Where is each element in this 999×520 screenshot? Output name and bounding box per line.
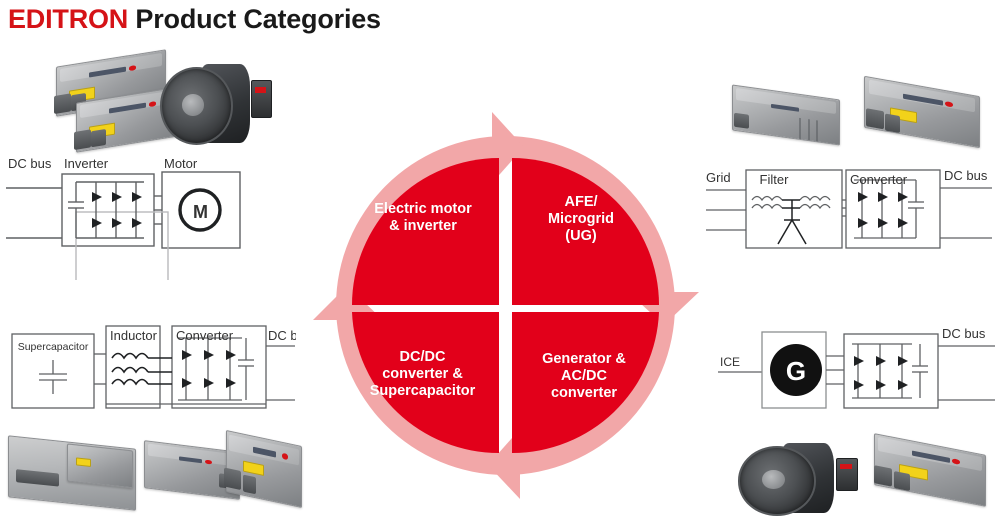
quadrant-label-afe-microgrid: AFE/ Microgrid (UG) — [511, 194, 651, 245]
label-filter: Filter — [760, 172, 790, 187]
brand-name: EDITRON — [8, 4, 128, 34]
label-ice: ICE — [720, 355, 740, 369]
schematic-ice-generator: G ICE DC bus — [716, 318, 996, 423]
photos-bottom-left — [4, 432, 294, 518]
generator-symbol: G — [786, 356, 806, 386]
quadrant-label-generator-acdc: Generator & AC/DC converter — [509, 351, 659, 402]
slide-canvas: EDITRON Product Categories — [0, 0, 999, 520]
label-dc-bus: DC bus — [944, 168, 988, 183]
label-grid: Grid — [706, 170, 731, 185]
converter-unit-photo — [874, 433, 986, 507]
quadrant-label-electric-motor-inverter: Electric motor & inverter — [348, 201, 498, 235]
label-dc-bus: DC bus — [268, 328, 296, 343]
label-dc-bus: DC bus — [942, 326, 986, 341]
photos-top-right — [726, 78, 996, 158]
schematic-inverter-motor: M DC bus Inverter Motor — [4, 150, 254, 280]
title-text: Product Categories — [135, 4, 380, 34]
photos-bottom-right — [738, 438, 998, 518]
photos-top-left — [48, 52, 268, 157]
cycle-arrow-ring — [313, 112, 699, 499]
converter-unit-photo — [732, 84, 840, 145]
label-supercapacitor: Supercapacitor — [18, 341, 89, 353]
schematic-grid-converter: Grid Filter Converter DC bus — [704, 158, 994, 263]
motor-symbol: M — [193, 202, 208, 222]
label-dc-bus: DC bus — [8, 156, 52, 171]
generator-photo — [738, 442, 858, 516]
page-title: EDITRON Product Categories — [8, 4, 381, 35]
electric-motor-photo — [160, 62, 272, 146]
label-converter: Converter — [176, 328, 234, 343]
schematic-supercapacitor-dcdc: Supercapacitor Inductor Converter DC bus — [6, 318, 296, 428]
flat-converter-unit-photo — [8, 435, 136, 510]
quadrant-label-dcdc-supercapacitor: DC/DC converter & Supercapacitor — [340, 349, 505, 400]
label-inverter: Inverter — [64, 156, 109, 171]
label-inductor: Inductor — [110, 328, 158, 343]
label-motor: Motor — [164, 156, 198, 171]
label-converter: Converter — [850, 172, 908, 187]
converter-unit-photo — [864, 76, 980, 148]
product-category-wheel: Electric motor & inverter AFE/ Microgrid… — [296, 96, 716, 520]
